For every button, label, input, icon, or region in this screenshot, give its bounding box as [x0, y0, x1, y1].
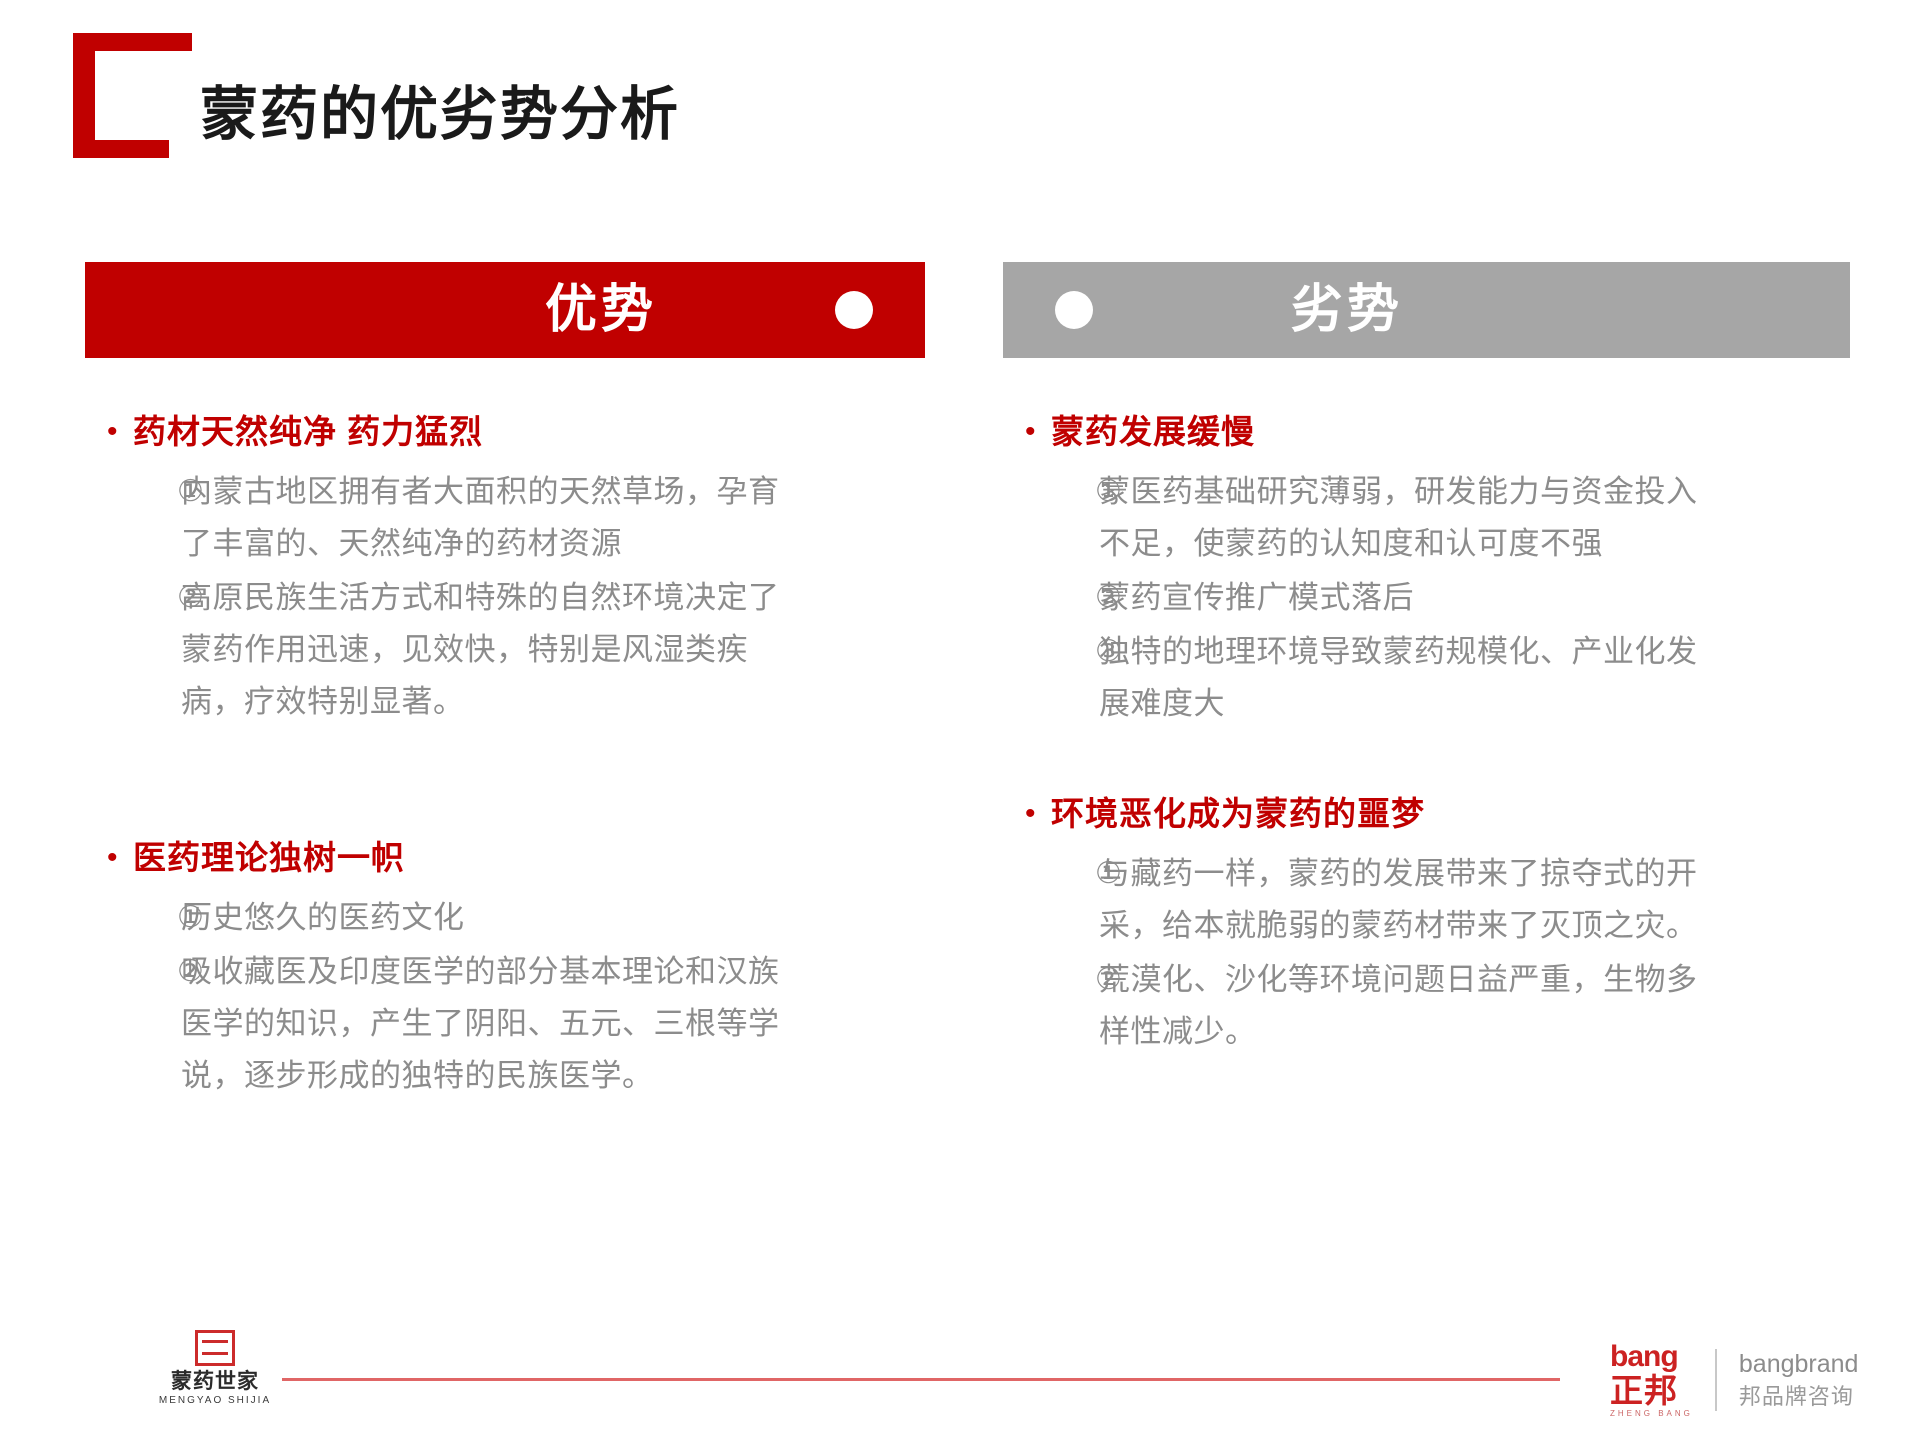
weaknesses-column: • 蒙药发展缓慢 ① 蒙医药基础研究薄弱，研发能力与资金投入不足，使蒙药的认知度…	[1003, 410, 1873, 1060]
list-marker: ①	[85, 466, 181, 518]
list-marker: ①	[85, 892, 181, 944]
red-seal-icon	[195, 1330, 235, 1366]
page-title: 蒙药的优劣势分析	[200, 86, 680, 144]
list-item: ③ 独特的地理环境导致蒙药规模化、产业化发展难度大	[1003, 626, 1873, 730]
list-marker: ①	[1003, 466, 1099, 518]
group-heading-row: • 环境恶化成为蒙药的噩梦	[1003, 792, 1873, 836]
footer-divider-line	[282, 1378, 1560, 1381]
group-heading: 药材天然纯净 药力猛烈	[133, 410, 483, 454]
agency-logo-bang: bang	[1610, 1342, 1678, 1372]
list-text: 高原民族生活方式和特殊的自然环境决定了蒙药作用迅速，见效快，特别是风湿类疾病，疗…	[181, 572, 801, 728]
circle-dot-icon	[835, 291, 873, 329]
list-text: 内蒙古地区拥有者大面积的天然草场，孕育了丰富的、天然纯净的药材资源	[181, 466, 801, 570]
group-heading: 医药理论独树一帜	[133, 836, 405, 880]
list-marker: ②	[85, 946, 181, 998]
agency-brand-en: bangbrand	[1739, 1349, 1859, 1380]
list-item: ① 与藏药一样，蒙药的发展带来了掠夺式的开采，给本就脆弱的蒙药材带来了灭顶之灾。	[1003, 848, 1873, 952]
bullet-icon: •	[85, 410, 133, 454]
bracket-decoration-stub-icon	[73, 140, 169, 158]
weaknesses-header-bar: 劣势	[1003, 262, 1850, 358]
list-item: ① 内蒙古地区拥有者大面积的天然草场，孕育了丰富的、天然纯净的药材资源	[85, 466, 955, 570]
group-heading-row: • 药材天然纯净 药力猛烈	[85, 410, 955, 454]
client-logo-name-cn: 蒙药世家	[171, 1370, 259, 1393]
weaknesses-group-2: • 环境恶化成为蒙药的噩梦 ① 与藏药一样，蒙药的发展带来了掠夺式的开采，给本就…	[1003, 792, 1873, 1058]
list-item: ② 吸收藏医及印度医学的部分基本理论和汉族医学的知识，产生了阴阳、五元、三根等学…	[85, 946, 955, 1102]
list-text: 历史悠久的医药文化	[181, 892, 465, 944]
agency-logo-pinyin: ZHENG BANG	[1610, 1410, 1693, 1418]
group-heading-row: • 蒙药发展缓慢	[1003, 410, 1873, 454]
bullet-icon: •	[1003, 792, 1051, 836]
list-marker: ③	[1003, 626, 1099, 678]
list-text: 蒙药宣传推广模式落后	[1099, 572, 1414, 624]
list-marker: ②	[1003, 572, 1099, 624]
list-marker: ②	[1003, 954, 1099, 1006]
group-heading: 蒙药发展缓慢	[1051, 410, 1255, 454]
weaknesses-header-label: 劣势	[1291, 284, 1403, 336]
logo-divider	[1715, 1349, 1717, 1411]
strengths-header-bar: 优势	[85, 262, 925, 358]
list-text: 独特的地理环境导致蒙药规模化、产业化发展难度大	[1099, 626, 1719, 730]
client-logo: 蒙药世家 MENGYAO SHIJIA	[140, 1330, 290, 1430]
list-item: ② 荒漠化、沙化等环境问题日益严重，生物多样性减少。	[1003, 954, 1873, 1058]
list-text: 荒漠化、沙化等环境问题日益严重，生物多样性减少。	[1099, 954, 1719, 1058]
group-heading: 环境恶化成为蒙药的噩梦	[1051, 792, 1425, 836]
list-item: ① 蒙医药基础研究薄弱，研发能力与资金投入不足，使蒙药的认知度和认可度不强	[1003, 466, 1873, 570]
list-text: 与藏药一样，蒙药的发展带来了掠夺式的开采，给本就脆弱的蒙药材带来了灭顶之灾。	[1099, 848, 1719, 952]
list-item: ② 高原民族生活方式和特殊的自然环境决定了蒙药作用迅速，见效快，特别是风湿类疾病…	[85, 572, 955, 728]
strengths-column: • 药材天然纯净 药力猛烈 ① 内蒙古地区拥有者大面积的天然草场，孕育了丰富的、…	[85, 410, 955, 1104]
circle-dot-icon	[1055, 291, 1093, 329]
strengths-group-2: • 医药理论独树一帜 ① 历史悠久的医药文化 ② 吸收藏医及印度医学的部分基本理…	[85, 836, 955, 1102]
title-area: 蒙药的优劣势分析	[0, 0, 1920, 200]
list-marker: ②	[85, 572, 181, 624]
agency-logo-zhengbang: 正邦	[1610, 1374, 1678, 1407]
sub-list: ① 蒙医药基础研究薄弱，研发能力与资金投入不足，使蒙药的认知度和认可度不强 ② …	[1003, 466, 1873, 730]
agency-logo: bang 正邦 ZHENG BANG bangbrand 邦品牌咨询	[1610, 1338, 1858, 1422]
strengths-header-label: 优势	[545, 284, 657, 336]
list-item: ② 蒙药宣传推广模式落后	[1003, 572, 1873, 624]
bullet-icon: •	[85, 836, 133, 880]
sub-list: ① 内蒙古地区拥有者大面积的天然草场，孕育了丰富的、天然纯净的药材资源 ② 高原…	[85, 466, 955, 728]
sub-list: ① 与藏药一样，蒙药的发展带来了掠夺式的开采，给本就脆弱的蒙药材带来了灭顶之灾。…	[1003, 848, 1873, 1058]
sub-list: ① 历史悠久的医药文化 ② 吸收藏医及印度医学的部分基本理论和汉族医学的知识，产…	[85, 892, 955, 1102]
weaknesses-group-1: • 蒙药发展缓慢 ① 蒙医药基础研究薄弱，研发能力与资金投入不足，使蒙药的认知度…	[1003, 410, 1873, 730]
list-marker: ①	[1003, 848, 1099, 900]
agency-logo-mark: bang 正邦 ZHENG BANG	[1610, 1342, 1693, 1418]
list-item: ① 历史悠久的医药文化	[85, 892, 955, 944]
agency-logo-text: bangbrand 邦品牌咨询	[1739, 1349, 1859, 1411]
list-text: 蒙医药基础研究薄弱，研发能力与资金投入不足，使蒙药的认知度和认可度不强	[1099, 466, 1719, 570]
list-text: 吸收藏医及印度医学的部分基本理论和汉族医学的知识，产生了阴阳、五元、三根等学说，…	[181, 946, 801, 1102]
group-heading-row: • 医药理论独树一帜	[85, 836, 955, 880]
bullet-icon: •	[1003, 410, 1051, 454]
agency-brand-cn: 邦品牌咨询	[1739, 1383, 1859, 1411]
client-logo-name-en: MENGYAO SHIJIA	[159, 1395, 271, 1406]
strengths-group-1: • 药材天然纯净 药力猛烈 ① 内蒙古地区拥有者大面积的天然草场，孕育了丰富的、…	[85, 410, 955, 728]
